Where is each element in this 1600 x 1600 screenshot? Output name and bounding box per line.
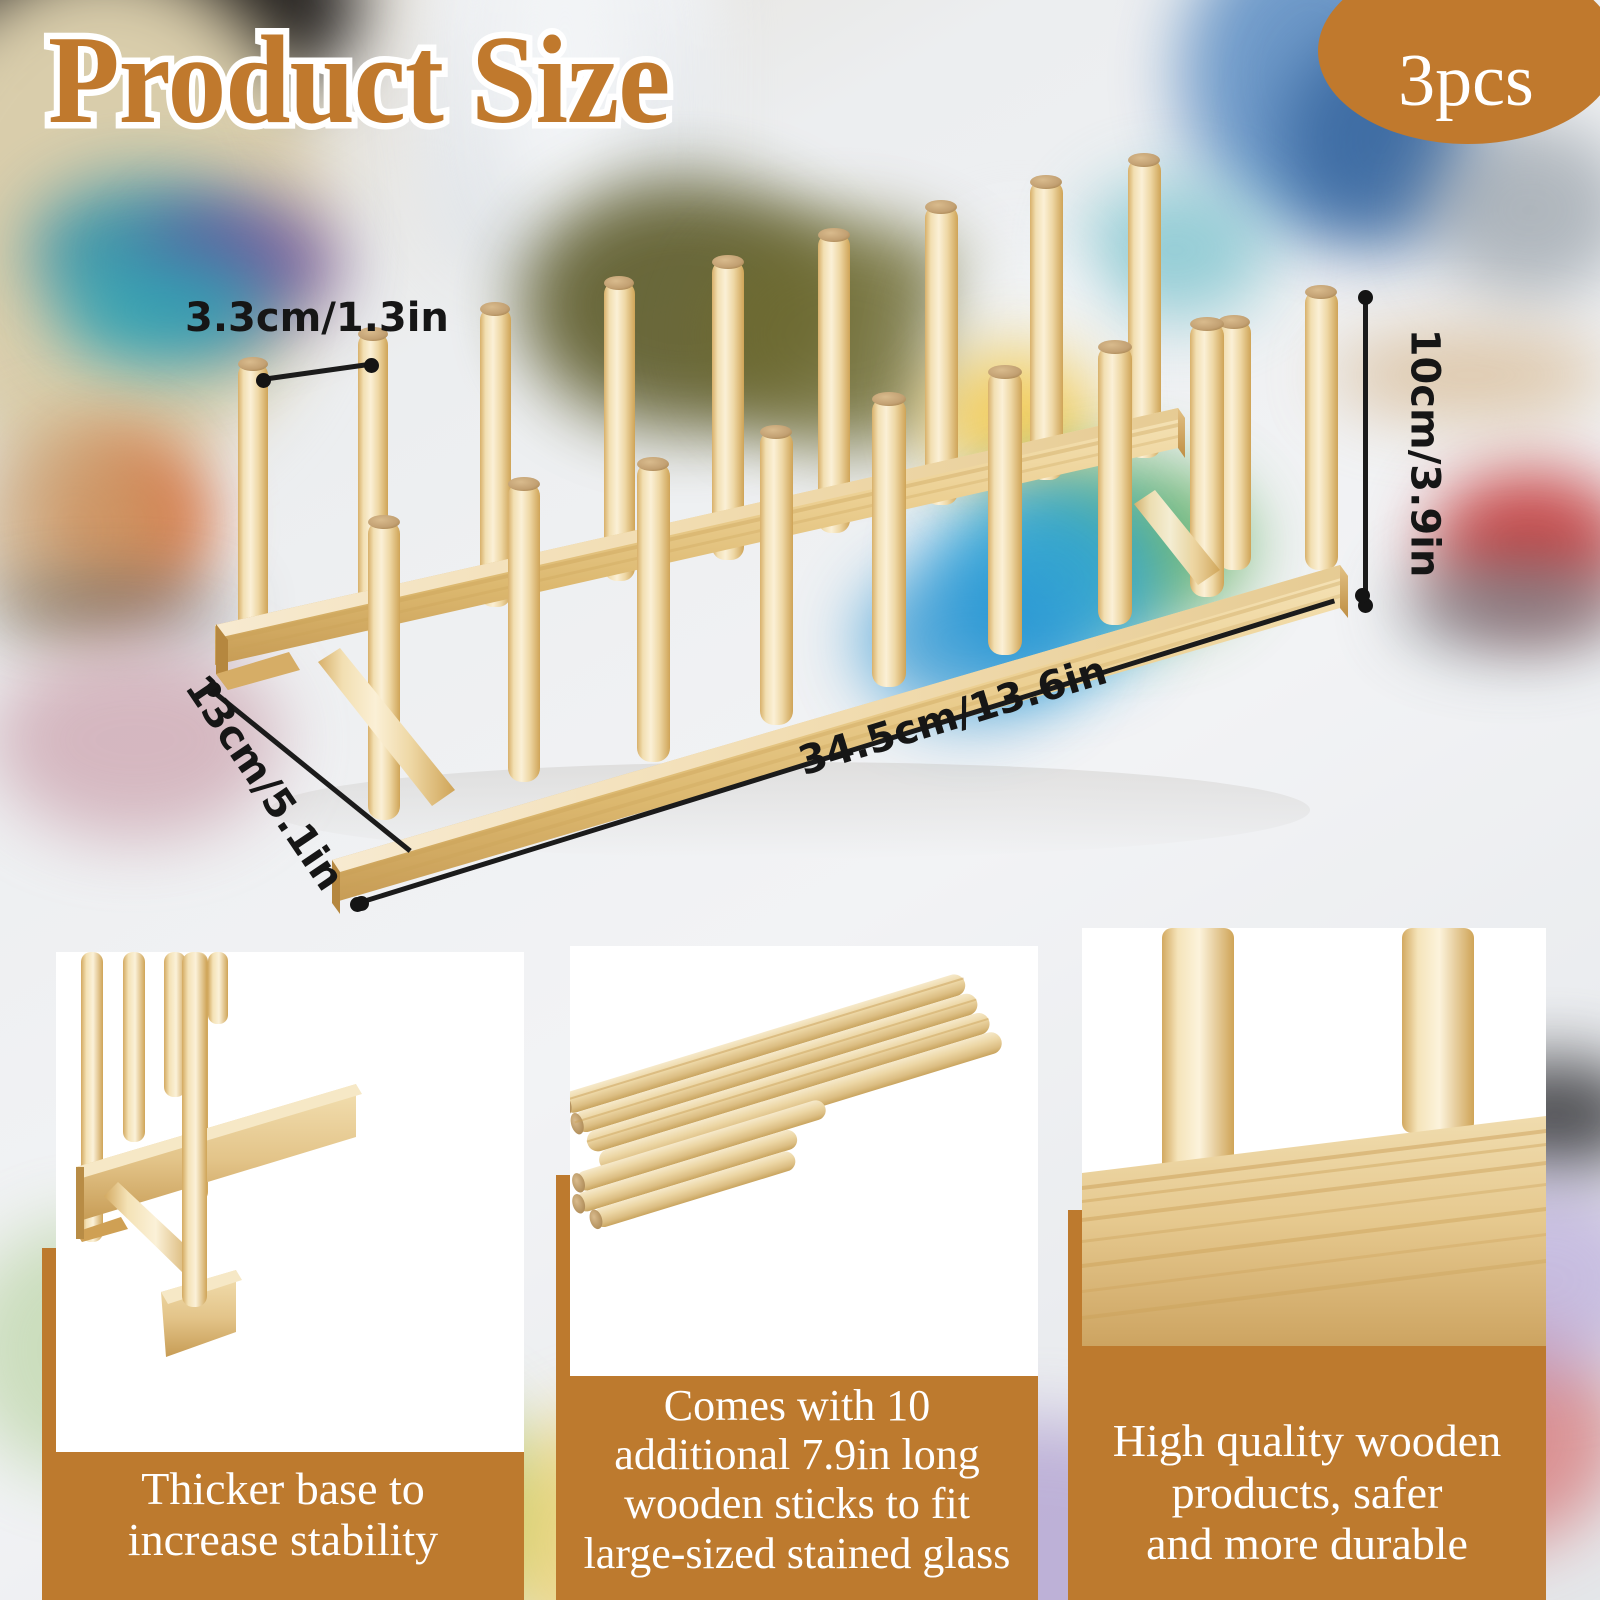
caption-line: increase stability	[60, 1514, 506, 1566]
dimension-dot-length-right	[1355, 588, 1370, 603]
caption-line: Thicker base to	[60, 1463, 506, 1515]
dimension-dot-top	[1358, 290, 1373, 305]
quantity-badge-label: 3pcs	[1398, 44, 1538, 118]
caption-line: large-sized stained glass	[562, 1529, 1032, 1578]
dimension-line-height	[1363, 296, 1368, 606]
page-title: Product Size	[48, 18, 669, 144]
panel-photo-base-joint	[56, 952, 524, 1452]
dimension-dot-length-left	[354, 896, 369, 911]
caption-line: High quality wooden	[1076, 1415, 1538, 1467]
dimension-dot-left	[256, 373, 271, 388]
panel-photo-dowel-bundle	[570, 946, 1038, 1376]
caption-line: additional 7.9in long	[562, 1430, 1032, 1479]
panel-caption: High quality wooden products, safer and …	[1068, 1415, 1546, 1570]
panel-caption: Comes with 10 additional 7.9in long wood…	[556, 1381, 1038, 1578]
caption-line: and more durable	[1076, 1518, 1538, 1570]
dimension-label-stick-spacing: 3.3cm/1.3in	[185, 295, 449, 341]
dimension-dot-right	[364, 358, 379, 373]
caption-line: Comes with 10	[562, 1381, 1032, 1430]
feature-panel-extra-sticks[interactable]: Comes with 10 additional 7.9in long wood…	[556, 928, 1038, 1600]
caption-line: products, safer	[1076, 1467, 1538, 1519]
caption-line: wooden sticks to fit	[562, 1479, 1032, 1528]
dimension-label-height: 10cm/3.9in	[1401, 329, 1447, 578]
panel-caption: Thicker base to increase stability	[42, 1463, 524, 1566]
feature-panel-high-quality[interactable]: High quality wooden products, safer and …	[1068, 928, 1546, 1600]
feature-panel-thicker-base[interactable]: Thicker base to increase stability	[42, 928, 524, 1600]
panel-photo-wood-grain	[1082, 928, 1546, 1346]
